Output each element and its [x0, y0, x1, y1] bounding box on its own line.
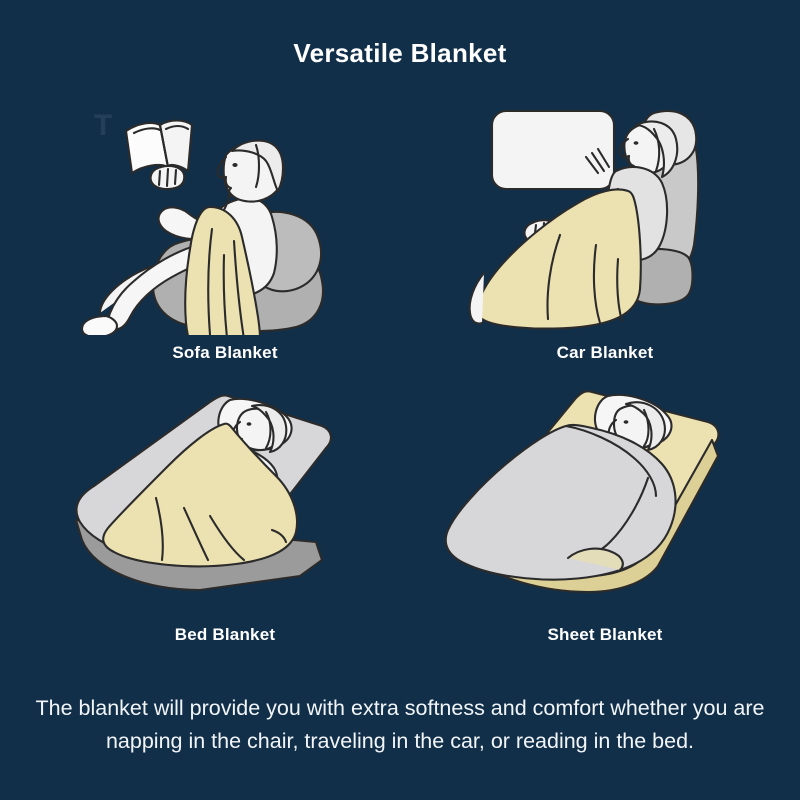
- sheet-blanket-illustration: [440, 380, 770, 615]
- car-blanket-illustration: [440, 95, 770, 335]
- bed-blanket-illustration: [60, 380, 390, 615]
- person-hand-icon: [151, 166, 185, 189]
- person-eye-icon: [634, 141, 639, 145]
- car-window-icon: [492, 111, 614, 189]
- panel-label-bed: Bed Blanket: [60, 625, 390, 645]
- page-title: Versatile Blanket: [0, 38, 800, 69]
- person-shoe-icon: [82, 316, 117, 335]
- panel-label-sofa: Sofa Blanket: [60, 343, 390, 363]
- grey-duvet-icon: [446, 425, 676, 580]
- panel-label-sheet: Sheet Blanket: [440, 625, 770, 645]
- person-leg-icon: [470, 273, 484, 324]
- sofa-blanket-illustration: [60, 95, 390, 335]
- panel-sofa: Sofa Blanket: [60, 95, 390, 380]
- footer-caption: The blanket will provide you with extra …: [28, 692, 772, 758]
- person-eye-icon: [247, 422, 252, 426]
- infographic-root: Versatile Blanket T: [0, 0, 800, 800]
- panel-car: Car Blanket: [440, 95, 770, 380]
- open-book-icon: [126, 121, 192, 174]
- person-eye-icon: [232, 163, 237, 167]
- panel-bed: Bed Blanket: [60, 380, 390, 655]
- panel-sheet: Sheet Blanket: [440, 380, 770, 655]
- panel-label-car: Car Blanket: [440, 343, 770, 363]
- yellow-blanket-icon: [478, 190, 641, 329]
- person-eye-icon: [624, 420, 629, 424]
